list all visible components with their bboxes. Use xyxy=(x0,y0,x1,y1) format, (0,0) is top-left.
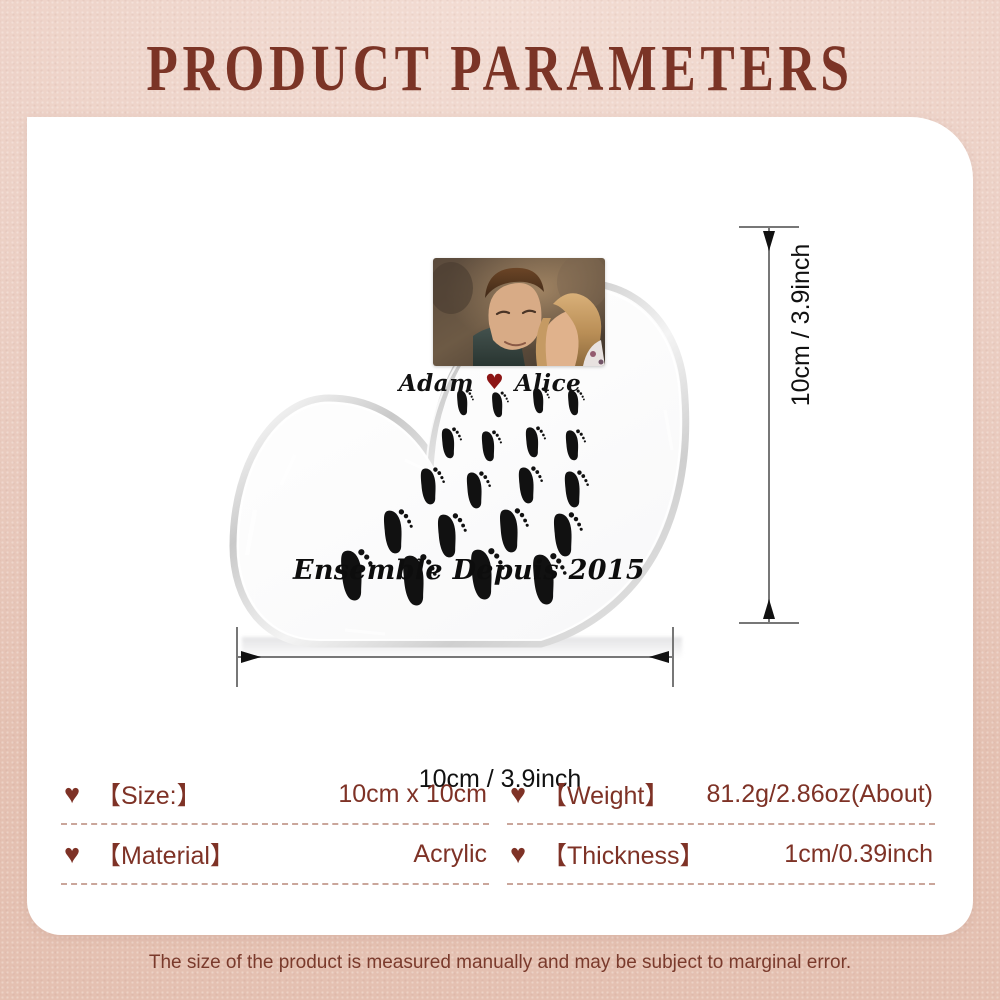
disclaimer-text: The size of the product is measured manu… xyxy=(0,952,1000,974)
engraved-names: Adam♥Alice xyxy=(225,370,695,397)
acrylic-heart-plaque: Adam♥Alice xyxy=(225,210,695,650)
heart-bullet-icon: ♥ xyxy=(505,841,531,867)
spec-label-thickness: 【Thickness】 xyxy=(542,836,705,872)
spec-label-size: 【Size:】 xyxy=(96,776,202,812)
spec-value-thickness: 1cm/0.39inch xyxy=(705,840,937,869)
height-dimension-label: 10cm / 3.9inch xyxy=(787,215,816,435)
specs-column-left: ♥ 【Size:】 10cm x 10cm ♥ 【Material】 Acryl… xyxy=(59,765,491,885)
heart-bullet-icon: ♥ xyxy=(505,781,531,807)
page-title: PRODUCT PARAMETERS xyxy=(110,34,890,104)
spec-separator xyxy=(507,883,935,885)
engraved-heart-icon: ♥ xyxy=(485,369,504,394)
width-dimension-line xyxy=(235,617,675,697)
product-display-area: Adam♥Alice xyxy=(27,117,973,697)
product-parameters-page: PRODUCT PARAMETERS xyxy=(0,0,1000,1000)
spec-row-weight: ♥ 【Weight】 81.2g/2.86oz(About) xyxy=(505,765,937,823)
spec-value-weight: 81.2g/2.86oz(About) xyxy=(669,780,937,809)
couple-photo xyxy=(433,258,605,366)
engraved-tagline: Ensemble Depuis 2015 xyxy=(225,555,695,586)
spec-row-size: ♥ 【Size:】 10cm x 10cm xyxy=(59,765,491,823)
spec-value-material: Acrylic xyxy=(235,840,491,869)
spec-row-material: ♥ 【Material】 Acrylic xyxy=(59,825,491,883)
spec-label-weight: 【Weight】 xyxy=(542,776,669,812)
engraved-name-right: Alice xyxy=(515,370,581,397)
specifications-table: ♥ 【Size:】 10cm x 10cm ♥ 【Material】 Acryl… xyxy=(27,765,973,900)
spec-label-material: 【Material】 xyxy=(96,836,235,872)
spec-value-size: 10cm x 10cm xyxy=(202,780,491,809)
content-card: Adam♥Alice xyxy=(27,117,973,935)
spec-row-thickness: ♥ 【Thickness】 1cm/0.39inch xyxy=(505,825,937,883)
heart-bullet-icon: ♥ xyxy=(59,841,85,867)
spec-separator xyxy=(61,883,489,885)
heart-bullet-icon: ♥ xyxy=(59,781,85,807)
specs-column-right: ♥ 【Weight】 81.2g/2.86oz(About) ♥ 【Thickn… xyxy=(505,765,937,885)
engraved-name-left: Adam xyxy=(399,370,474,397)
